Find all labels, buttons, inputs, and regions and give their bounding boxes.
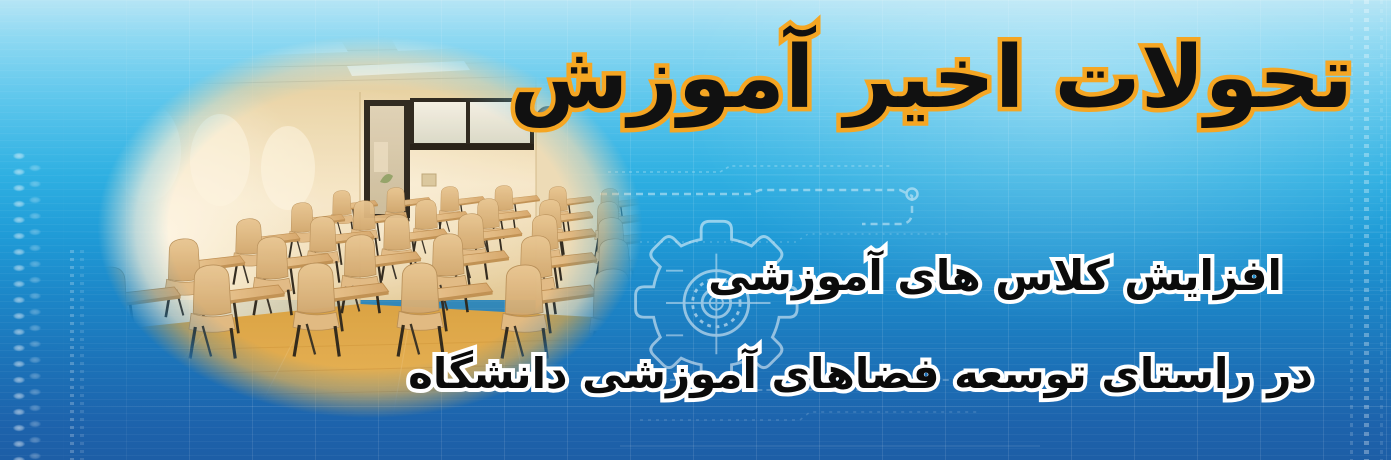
dotted-column-right-icon — [1364, 0, 1369, 460]
dotted-column-mid-secondary-icon — [80, 250, 84, 460]
education-banner: تحولات اخیر آموزش افزایش کلاس های آموزشی… — [0, 0, 1391, 460]
page-title: تحولات اخیر آموزش — [773, 26, 1353, 131]
dotted-chain-column-left-secondary-icon — [22, 160, 48, 460]
subtitle-line-2: در راستای توسعه فضاهای آموزشی دانشگاه — [673, 350, 1313, 398]
dotted-column-mid-icon — [70, 250, 74, 460]
dotted-column-right-tertiary-icon — [1380, 0, 1383, 460]
subtitle-line-1: افزایش کلاس های آموزشی — [695, 252, 1295, 300]
